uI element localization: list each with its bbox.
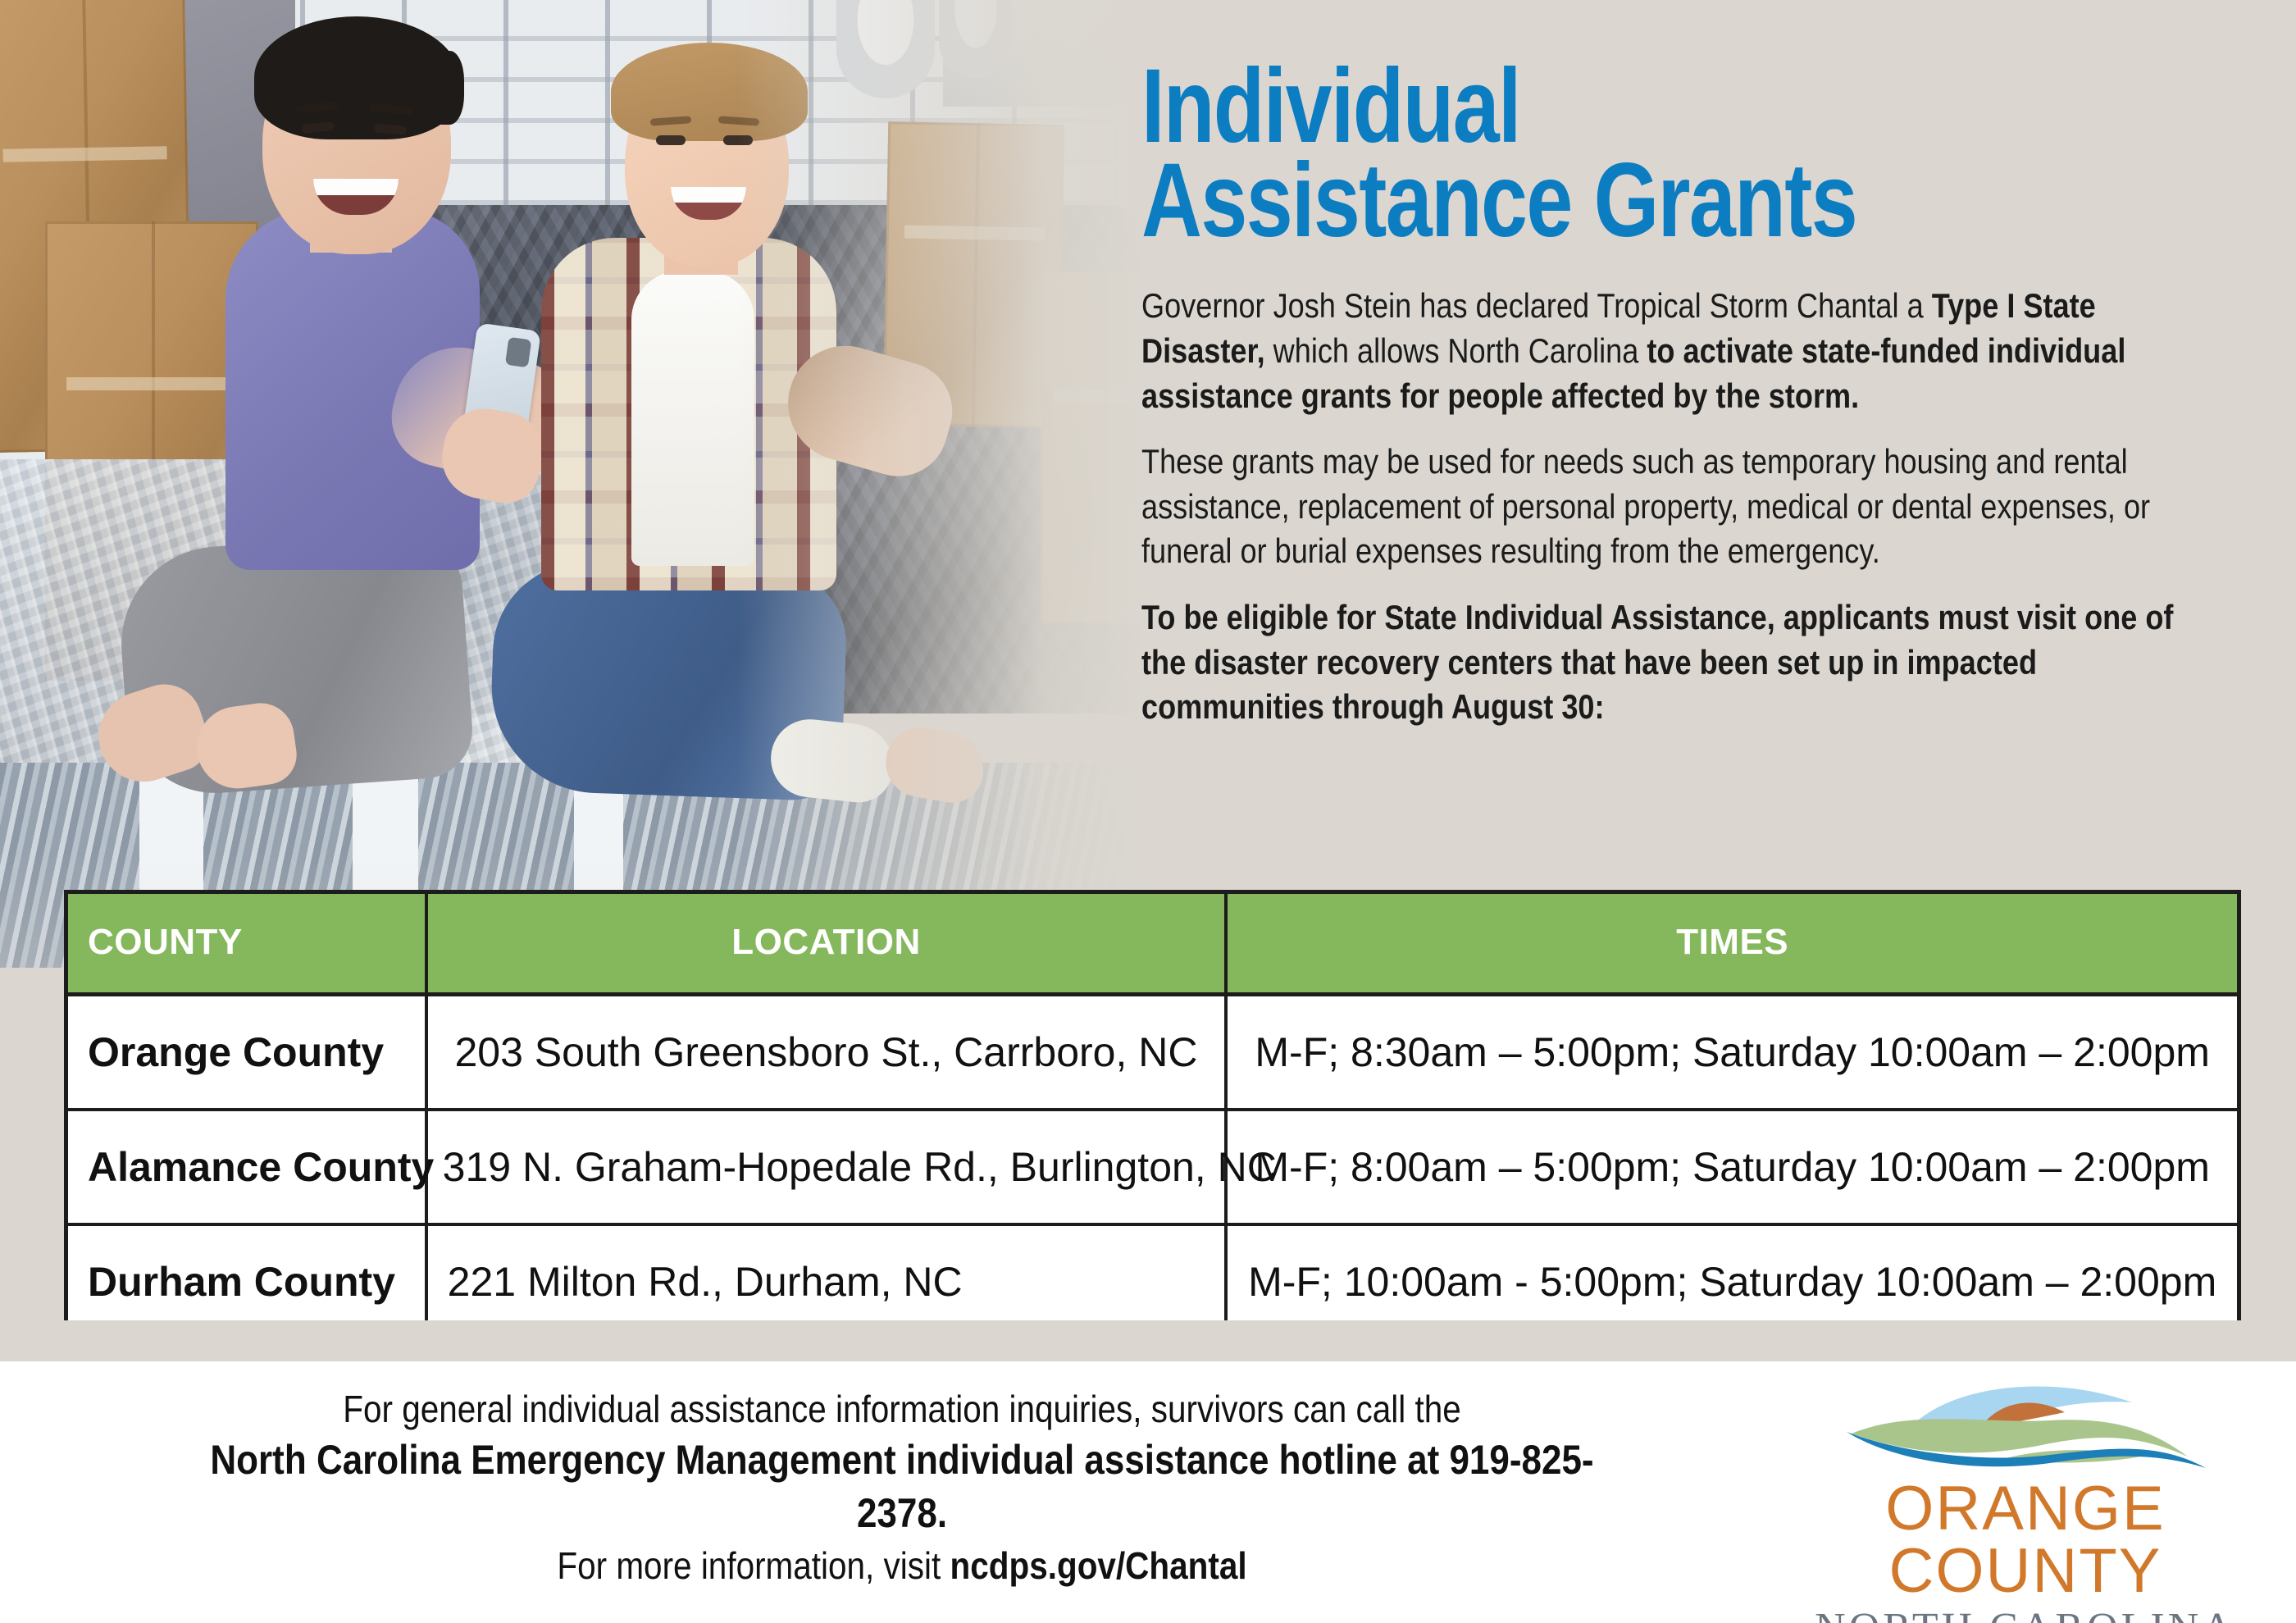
orange-county-swoosh-icon: [1779, 1378, 2271, 1476]
page-title: Individual Assistance Grants: [1141, 59, 2007, 248]
cell-county: Alamance County: [68, 1110, 426, 1224]
headline-line-2: Assistance Grants: [1141, 153, 2007, 248]
hero-photo: [0, 0, 1148, 968]
beige-band: [0, 1320, 2296, 1361]
column-header-location: LOCATION: [426, 894, 1227, 995]
paragraph-declaration: Governor Josh Stein has declared Tropica…: [1141, 284, 2221, 418]
logo-title: ORANGE COUNTY: [1779, 1478, 2271, 1602]
column-header-county: COUNTY: [68, 894, 426, 995]
orange-county-logo: ORANGE COUNTY NORTH CAROLINA: [1779, 1378, 2271, 1583]
paragraph-eligibility: To be eligible for State Individual Assi…: [1141, 595, 2221, 730]
footer-text-block: For general individual assistance inform…: [98, 1386, 1706, 1590]
cell-location: 203 South Greensboro St., Carrboro, NC: [426, 995, 1227, 1110]
woman-eye: [656, 135, 686, 145]
table-header-row: COUNTY LOCATION TIMES: [68, 894, 2237, 995]
footer-website-link[interactable]: ncdps.gov/Chantal: [950, 1544, 1247, 1587]
photo-gradient-fade: [738, 0, 1148, 968]
headline-and-body-column: Individual Assistance Grants Governor Jo…: [1141, 59, 2224, 751]
logo-subtitle: NORTH CAROLINA: [1779, 1607, 2271, 1623]
paragraph-1-part-c: which allows North Carolina: [1265, 331, 1647, 370]
paragraph-1-part-a: Governor Josh Stein has declared Tropica…: [1141, 286, 1932, 325]
footer: For general individual assistance inform…: [0, 1361, 2296, 1623]
man-hair: [254, 16, 459, 139]
woman-white-tee: [631, 271, 754, 566]
column-header-times: TIMES: [1226, 894, 2237, 995]
table-row: Orange County 203 South Greensboro St., …: [68, 995, 2237, 1110]
table-row: Alamance County 319 N. Graham-Hopedale R…: [68, 1110, 2237, 1224]
paragraph-uses: These grants may be used for needs such …: [1141, 440, 2221, 574]
footer-line-1: For general individual assistance inform…: [195, 1386, 1610, 1434]
poster-canvas: Individual Assistance Grants Governor Jo…: [0, 0, 2296, 1623]
cell-times: M-F; 8:00am – 5:00pm; Saturday 10:00am –…: [1226, 1110, 2237, 1224]
disaster-recovery-centers-table: COUNTY LOCATION TIMES Orange County 203 …: [64, 890, 2241, 1342]
footer-line-3-prefix: For more information, visit: [557, 1544, 950, 1587]
footer-line-3: For more information, visit ncdps.gov/Ch…: [195, 1542, 1610, 1591]
footer-line-2-hotline: North Carolina Emergency Management indi…: [195, 1434, 1610, 1540]
cell-county: Orange County: [68, 995, 426, 1110]
cell-times: M-F; 8:30am – 5:00pm; Saturday 10:00am –…: [1226, 995, 2237, 1110]
cell-location: 319 N. Graham-Hopedale Rd., Burlington, …: [426, 1110, 1227, 1224]
